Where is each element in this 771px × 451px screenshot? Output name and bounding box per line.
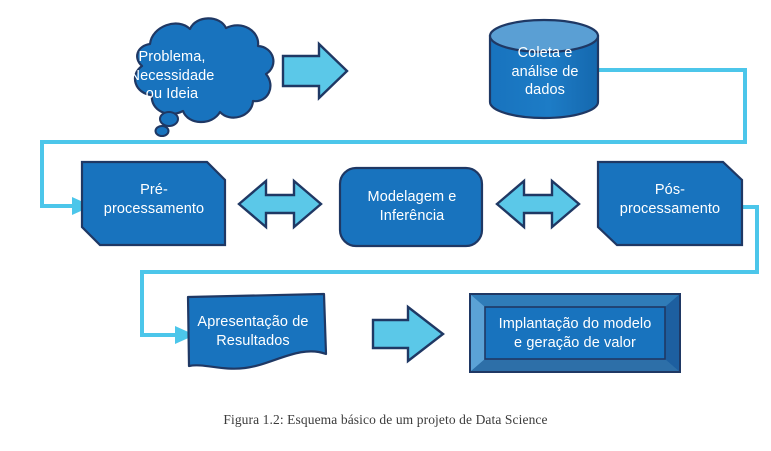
figure-container: Problema, Necessidade ou Ideia Coleta e … [0, 0, 771, 451]
arrow-modelagem-to-pos-processamento [497, 181, 579, 227]
arrow-apresentacao-to-implantacao [373, 307, 443, 361]
arrow-pre-processamento-to-modelagem [239, 181, 321, 227]
node-pos-processamento[interactable] [598, 162, 742, 245]
node-modelagem-e-inferencia[interactable] [340, 168, 482, 246]
figure-caption: Figura 1.2: Esquema básico de um projeto… [0, 412, 771, 428]
data-science-flow-diagram [0, 0, 771, 451]
arrow-problema-to-coleta [283, 44, 347, 98]
node-coleta-e-analise-de-dados[interactable] [490, 20, 598, 118]
node-implantacao-do-modelo-e-geracao-de-valor[interactable] [470, 294, 680, 372]
node-problema-necessidade-ou-ideia[interactable] [135, 18, 273, 136]
node-pre-processamento[interactable] [82, 162, 225, 245]
node-apresentacao-de-resultados[interactable] [188, 294, 326, 369]
